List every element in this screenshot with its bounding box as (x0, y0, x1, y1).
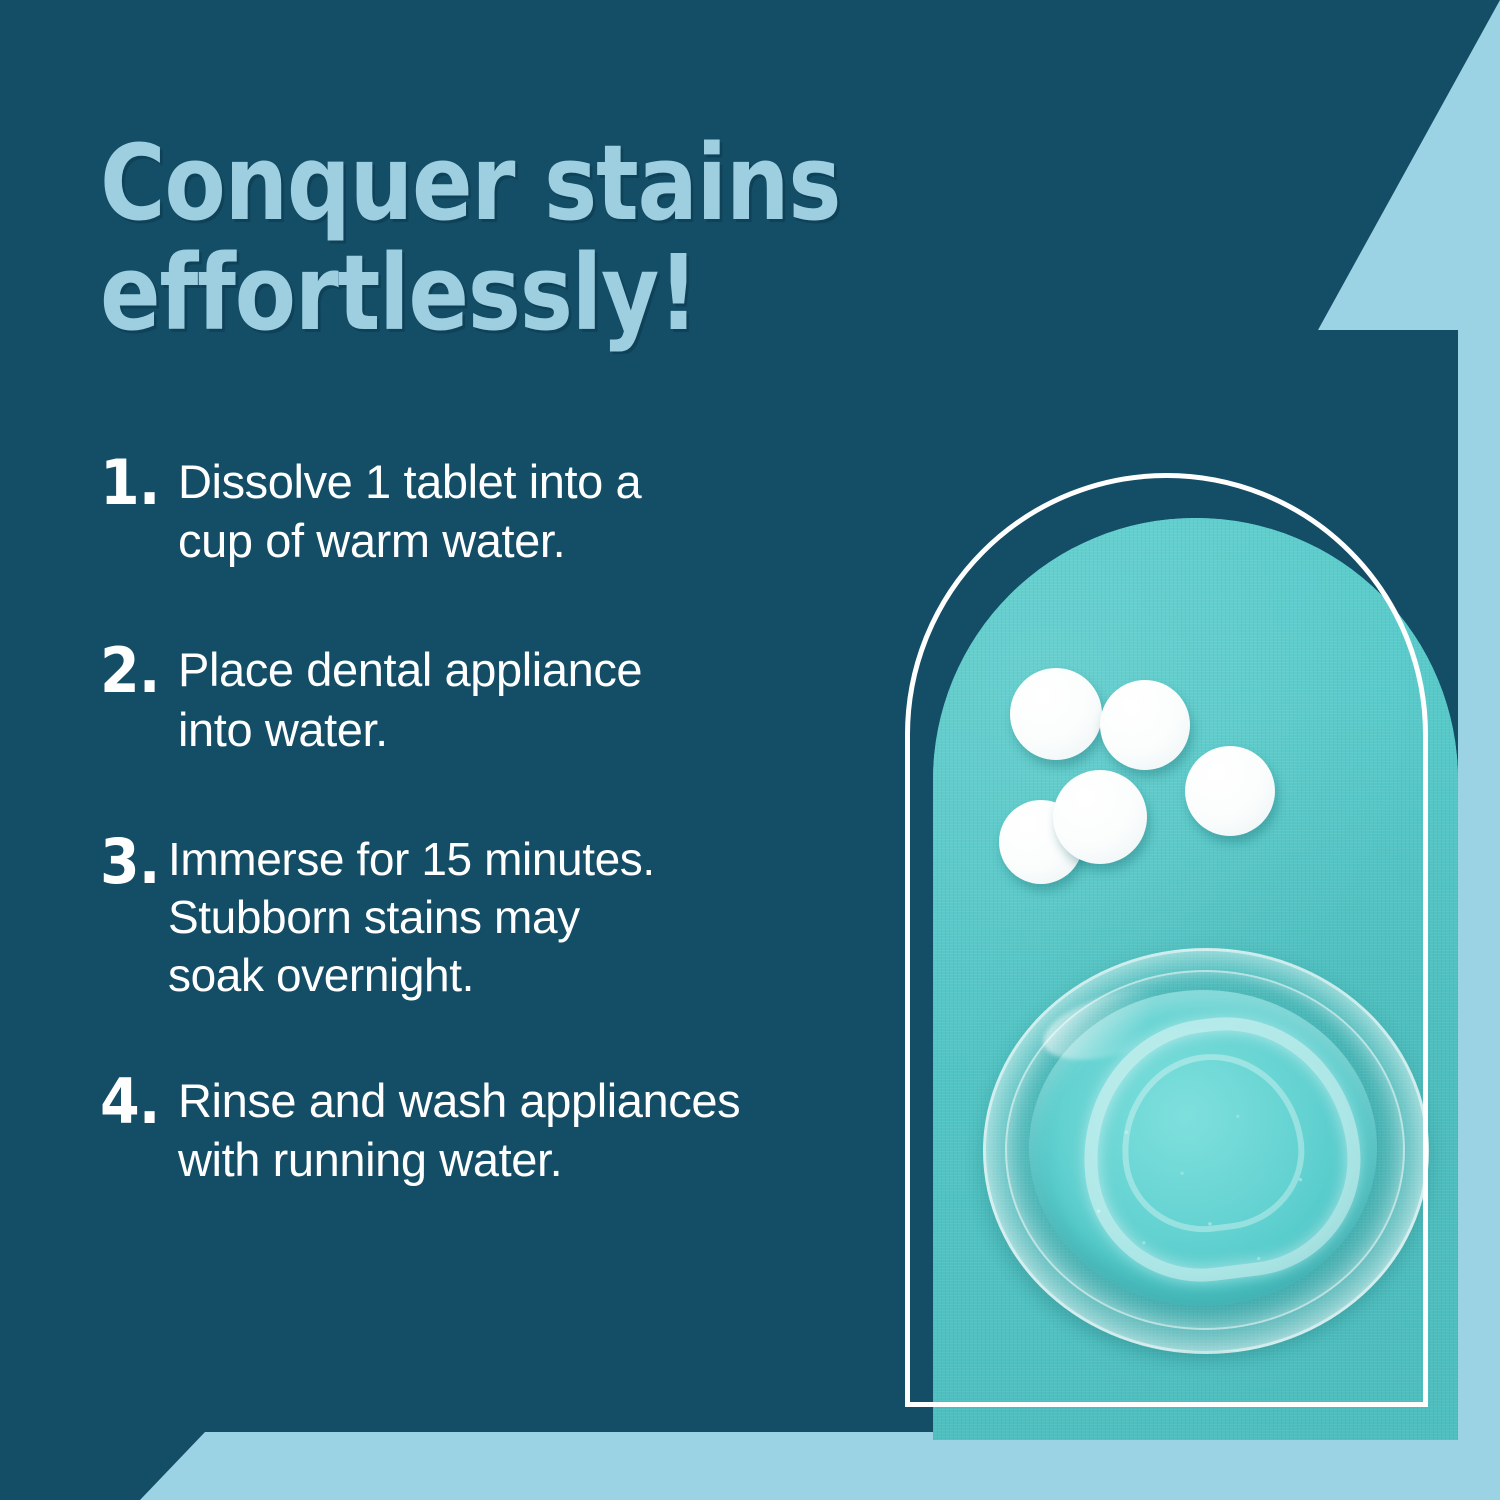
headline-line-1: Conquer stains (100, 128, 857, 238)
step-text-line: with running water. (178, 1130, 900, 1189)
cleaning-tablet (1010, 668, 1102, 760)
page-title: Conquer stains effortlessly! (100, 128, 857, 348)
step-text-line: into water. (178, 700, 900, 759)
step-text-line: Stubborn stains may (168, 889, 900, 947)
step-text-line: Place dental appliance (178, 640, 900, 699)
poster-canvas: Conquer stains effortlessly! 1. Dissolve… (0, 0, 1500, 1500)
step-text: Immerse for 15 minutes. Stubborn stains … (168, 831, 900, 1005)
instruction-steps-list: 1. Dissolve 1 tablet into a cup of warm … (100, 452, 900, 1189)
step-text-line: Immerse for 15 minutes. (168, 831, 900, 889)
headline-line-2: effortlessly! (100, 238, 857, 348)
instruction-step: 2. Place dental appliance into water. (100, 640, 900, 758)
step-number: 2. (100, 640, 172, 702)
product-photo-panel (933, 518, 1458, 1440)
step-number: 4. (100, 1071, 172, 1133)
step-text: Place dental appliance into water. (178, 640, 900, 758)
instruction-step: 1. Dissolve 1 tablet into a cup of warm … (100, 452, 900, 570)
cleaning-tablet (1100, 680, 1190, 770)
instruction-step: 4. Rinse and wash appliances with runnin… (100, 1071, 900, 1189)
instruction-step: 3. Immerse for 15 minutes. Stubborn stai… (100, 831, 900, 1005)
cleaning-tablet (1053, 770, 1147, 864)
step-number: 1. (100, 452, 172, 514)
step-text-line: Rinse and wash appliances (178, 1071, 900, 1130)
cleaning-tablet (1185, 746, 1275, 836)
step-number: 3. (100, 831, 163, 893)
step-text-line: cup of warm water. (178, 511, 900, 570)
step-text: Rinse and wash appliances with running w… (178, 1071, 900, 1189)
step-text: Dissolve 1 tablet into a cup of warm wat… (178, 452, 900, 570)
step-text-line: Dissolve 1 tablet into a (178, 452, 900, 511)
step-text-line: soak overnight. (168, 947, 900, 1005)
